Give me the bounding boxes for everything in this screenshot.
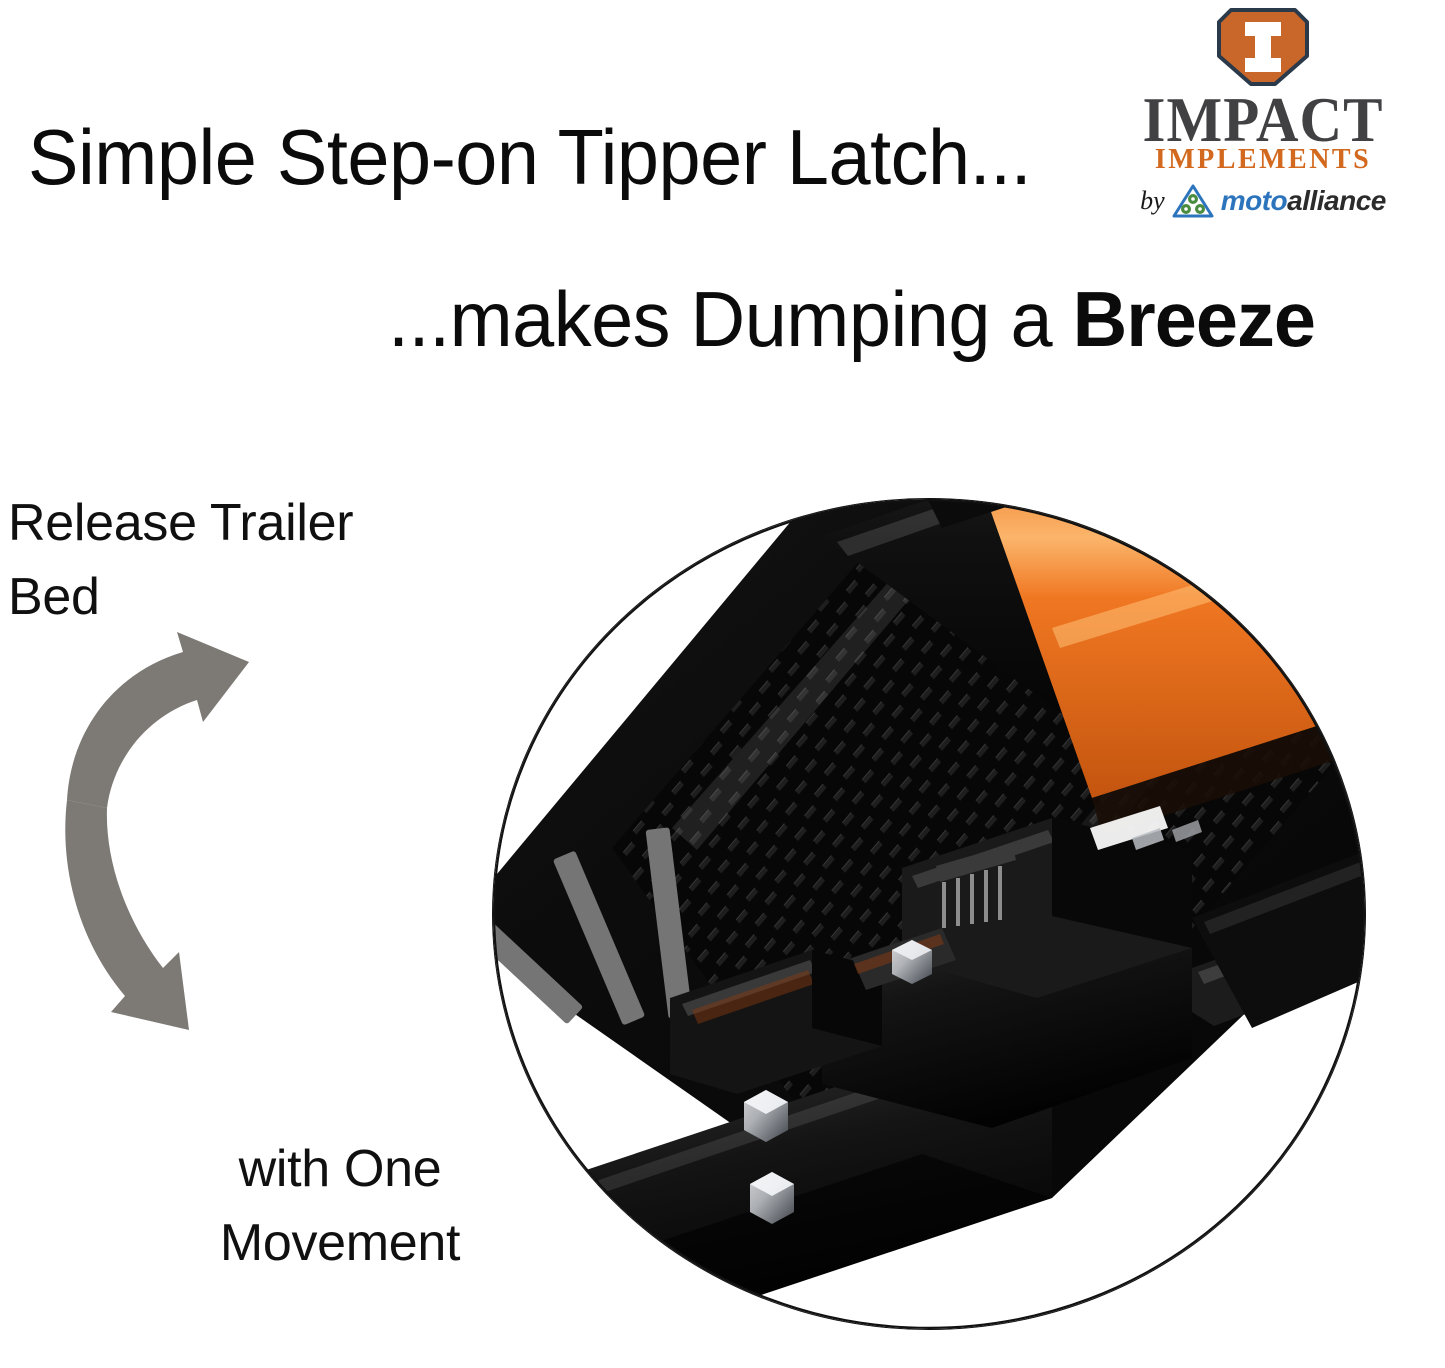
headline-line-2: ...makes Dumping a Breeze: [388, 274, 1315, 365]
impact-shield-i-icon: [1215, 6, 1311, 88]
logo-byline: by motoalliance: [1088, 184, 1438, 218]
logo-impact-text: IMPACT: [1088, 88, 1438, 152]
brand-logo: IMPACT IMPLEMENTS by: [1088, 4, 1438, 230]
motoalliance-gear-triangle-icon: [1172, 184, 1214, 218]
logo-byline-brand-moto: moto: [1221, 185, 1287, 216]
callout-release-line-1: Release Trailer: [8, 487, 468, 561]
headline-line-1: Simple Step-on Tipper Latch...: [28, 112, 1031, 203]
logo-byline-brand-alliance: alliance: [1287, 185, 1386, 216]
curved-double-headed-arrow-icon: [55, 600, 355, 1100]
logo-byline-prefix: by: [1140, 188, 1165, 214]
logo-byline-brand: motoalliance: [1221, 187, 1386, 215]
product-photo-circle: [492, 498, 1366, 1330]
headline-emphasis-word: Breeze: [1073, 275, 1315, 363]
infographic-page: Simple Step-on Tipper Latch... ...makes …: [0, 0, 1445, 1368]
headline-line-2-prefix: ...makes Dumping a: [388, 275, 1073, 363]
logo-implements-text: IMPLEMENTS: [1088, 146, 1438, 174]
